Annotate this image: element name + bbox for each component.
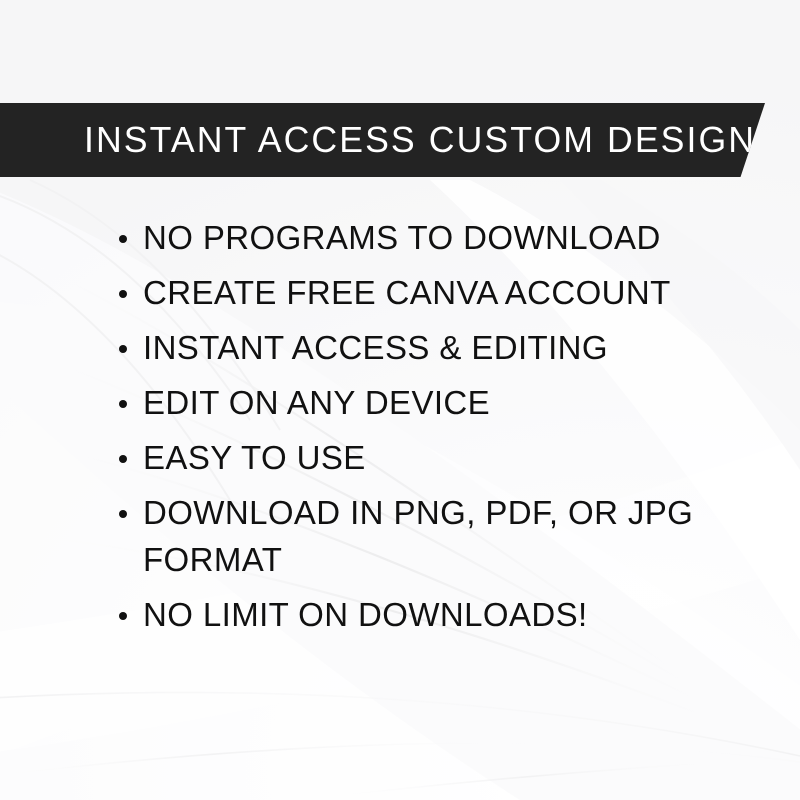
feature-label: EDIT ON ANY DEVICE (143, 379, 718, 426)
list-item: EASY TO USE (118, 434, 718, 481)
list-item: NO PROGRAMS TO DOWNLOAD (118, 214, 718, 261)
feature-label: DOWNLOAD IN PNG, PDF, OR JPG FORMAT (143, 489, 718, 583)
list-item: CREATE FREE CANVA ACCOUNT (118, 269, 718, 316)
feature-label: INSTANT ACCESS & EDITING (143, 324, 718, 371)
poster-canvas: INSTANT ACCESS CUSTOM DESIGNS NO PROGRAM… (0, 0, 800, 800)
list-item: DOWNLOAD IN PNG, PDF, OR JPG FORMAT (118, 489, 718, 583)
header-banner: INSTANT ACCESS CUSTOM DESIGNS (0, 103, 765, 177)
bullet-dot-icon (119, 235, 127, 243)
bullet-dot-icon (119, 345, 127, 353)
list-item: INSTANT ACCESS & EDITING (118, 324, 718, 371)
bullet-dot-icon (119, 290, 127, 298)
list-item: EDIT ON ANY DEVICE (118, 379, 718, 426)
feature-label: NO LIMIT ON DOWNLOADS! (143, 591, 718, 638)
bullet-dot-icon (119, 400, 127, 408)
bullet-dot-icon (119, 455, 127, 463)
bullet-dot-icon (119, 612, 127, 620)
list-item: NO LIMIT ON DOWNLOADS! (118, 591, 718, 638)
bullet-dot-icon (119, 510, 127, 518)
feature-label: EASY TO USE (143, 434, 718, 481)
feature-label: NO PROGRAMS TO DOWNLOAD (143, 214, 718, 261)
feature-list: NO PROGRAMS TO DOWNLOAD CREATE FREE CANV… (118, 214, 718, 646)
feature-label: CREATE FREE CANVA ACCOUNT (143, 269, 718, 316)
page-title: INSTANT ACCESS CUSTOM DESIGNS (84, 122, 782, 158)
